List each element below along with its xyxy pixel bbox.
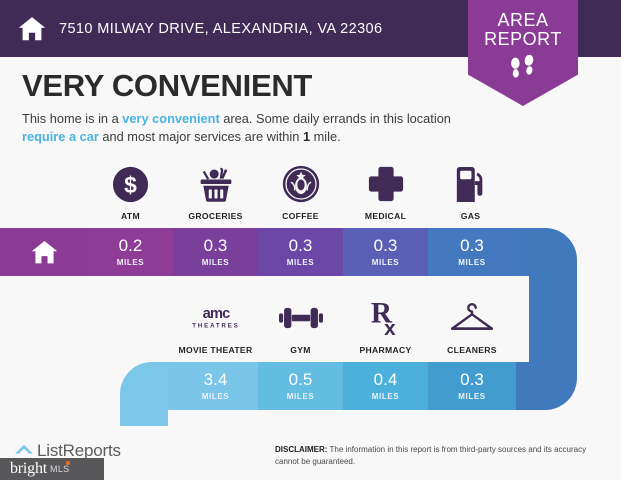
page-title: VERY CONVENIENT	[22, 68, 312, 104]
svg-text:THEATRES: THEATRES	[192, 324, 239, 330]
area-report-badge: AREA REPORT	[468, 0, 578, 106]
property-address: 7510 MILWAY DRIVE, ALEXANDRIA, VA 22306	[59, 21, 382, 37]
row1-icon-strip: $ ATM	[88, 163, 513, 221]
subtitle-part-4: mile.	[310, 129, 341, 144]
badge-line-2: REPORT	[484, 30, 562, 49]
bar1-cell-medical: 0.3 MILES	[343, 228, 428, 276]
distance-value: 0.3	[374, 237, 398, 254]
distance-value: 3.4	[204, 371, 228, 388]
bar1-cell-groceries: 0.3 MILES	[173, 228, 258, 276]
subtitle-highlight-convenient: very convenient	[122, 111, 219, 126]
bar2-cell-cleaners: 0.3 MILES	[428, 362, 516, 410]
dumbbell-icon	[279, 297, 323, 339]
distance-value: 0.5	[289, 371, 313, 388]
subtitle-part-3: and most major services are within	[99, 129, 303, 144]
svg-text:x: x	[384, 317, 396, 338]
medical-cross-icon	[367, 163, 405, 205]
icon-label-groceries: GROCERIES	[188, 211, 242, 221]
bar2-cell-gym: 0.5 MILES	[258, 362, 343, 410]
distance-unit: MILES	[287, 392, 314, 401]
subtitle-part-1: This home is in a	[22, 111, 122, 126]
distance-value: 0.3	[204, 237, 228, 254]
row1-distance-bar: 0.2 MILES 0.3 MILES 0.3 MILES 0.3 MILES …	[0, 228, 516, 276]
subtitle-highlight-distance: 1	[303, 129, 310, 144]
icon-cell-gym: GYM	[258, 297, 343, 355]
distance-unit: MILES	[287, 258, 314, 267]
bar2-cell-movie-theater: 3.4 MILES	[173, 362, 258, 410]
amc-theatres-icon: amc THEATRES	[190, 297, 242, 339]
page-subtitle: This home is in a very convenient area. …	[22, 110, 452, 145]
icon-label-coffee: COFFEE	[282, 211, 319, 221]
icon-label-cleaners: CLEANERS	[447, 345, 497, 355]
row2-icon-strip: amc THEATRES MOVIE THEATER GYM	[173, 297, 516, 355]
icon-cell-atm: $ ATM	[88, 163, 173, 221]
icon-cell-movie-theater: amc THEATRES MOVIE THEATER	[173, 297, 258, 355]
icon-cell-coffee: COFFEE	[258, 163, 343, 221]
distance-value: 0.3	[460, 237, 484, 254]
bar2-cell-pharmacy: 0.4 MILES	[343, 362, 428, 410]
distance-value: 0.2	[119, 237, 143, 254]
icon-cell-cleaners: CLEANERS	[428, 297, 516, 355]
distance-unit: MILES	[372, 392, 399, 401]
distance-unit: MILES	[202, 392, 229, 401]
icon-label-gas: GAS	[461, 211, 481, 221]
bright-dot-icon	[66, 461, 70, 465]
rx-pharmacy-icon: R x	[369, 297, 403, 339]
grocery-basket-icon	[196, 163, 236, 205]
distance-unit: MILES	[202, 258, 229, 267]
distance-unit: MILES	[458, 392, 485, 401]
icon-cell-medical: MEDICAL	[343, 163, 428, 221]
svg-text:amc: amc	[202, 306, 230, 322]
bar1-cell-coffee: 0.3 MILES	[258, 228, 343, 276]
svg-text:$: $	[124, 171, 137, 197]
starbucks-coffee-icon	[281, 163, 321, 205]
bright-mls-logo: bright MLS	[0, 458, 104, 480]
mls-wordmark: MLS	[50, 464, 69, 474]
icon-label-atm: ATM	[121, 211, 140, 221]
bar1-home-cell	[0, 228, 88, 276]
distance-value: 0.3	[460, 371, 484, 388]
bar1-cell-atm: 0.2 MILES	[88, 228, 173, 276]
icon-label-gym: GYM	[290, 345, 310, 355]
icon-cell-pharmacy: R x PHARMACY	[343, 297, 428, 355]
distance-value: 0.4	[374, 371, 398, 388]
gas-pump-icon	[454, 163, 488, 205]
icon-cell-gas: GAS	[428, 163, 513, 221]
subtitle-part-2: area. Some daily errands in this locatio…	[220, 111, 451, 126]
subtitle-highlight-car: require a car	[22, 129, 99, 144]
home-icon	[17, 14, 47, 44]
icon-label-medical: MEDICAL	[365, 211, 406, 221]
home-icon	[30, 238, 59, 267]
disclaimer: DISCLAIMER: The information in this repo…	[275, 444, 595, 467]
row2-distance-bar: 3.4 MILES 0.5 MILES 0.4 MILES 0.3 MILES	[173, 362, 516, 410]
distance-unit: MILES	[117, 258, 144, 267]
distance-unit: MILES	[372, 258, 399, 267]
icon-label-pharmacy: PHARMACY	[359, 345, 411, 355]
distance-value: 0.3	[289, 237, 313, 254]
badge-line-1: AREA	[497, 11, 548, 30]
listreports-house-icon	[14, 443, 34, 459]
bar1-cell-gas: 0.3 MILES	[428, 228, 516, 276]
clothes-hanger-icon	[448, 297, 496, 339]
bright-wordmark: bright	[10, 460, 47, 478]
icon-cell-groceries: GROCERIES	[173, 163, 258, 221]
distance-unit: MILES	[458, 258, 485, 267]
area-report-page: 7510 MILWAY DRIVE, ALEXANDRIA, VA 22306 …	[0, 0, 621, 480]
footprints-icon	[506, 55, 540, 85]
atm-dollar-icon: $	[112, 163, 149, 205]
icon-label-movie-theater: MOVIE THEATER	[179, 345, 253, 355]
disclaimer-label: DISCLAIMER:	[275, 445, 327, 454]
